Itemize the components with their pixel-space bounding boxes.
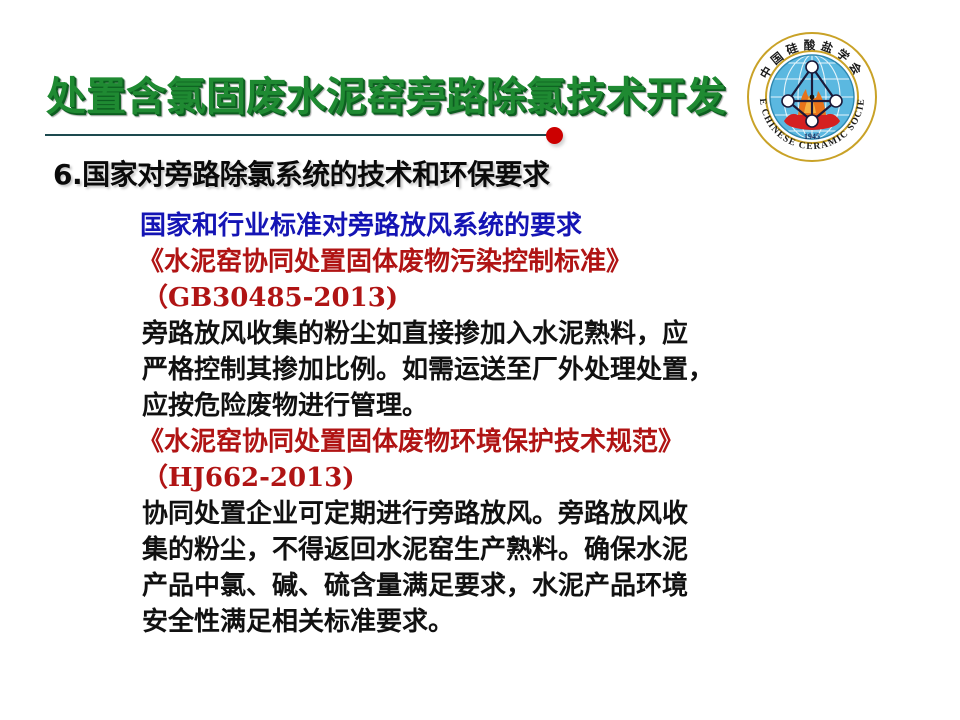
standard-1-paragraph-line: 应按危险废物进行管理。 <box>142 388 838 424</box>
chinese-ceramic-society-logo: 1945 中国硅酸盐学会 THE CHINESE CERAMIC SOCIETY <box>744 29 880 165</box>
standard-2-title: 《水泥窑协同处置固体废物环境保护技术规范》 <box>138 424 838 460</box>
standard-2-paragraph-line: 集的粉尘，不得返回水泥窑生产熟料。确保水泥 <box>142 532 838 568</box>
standard-2-paragraph-line: 产品中氯、碱、硫含量满足要求，水泥产品环境 <box>142 568 838 604</box>
standard-2-paragraph-line: 协同处置企业可定期进行旁路放风。旁路放风收 <box>142 496 838 532</box>
presentation-slide: 1945 中国硅酸盐学会 THE CHINESE CERAMIC SOCIETY… <box>0 0 960 720</box>
slide-main-title: 处置含氯固废水泥窑旁路除氯技术开发 <box>46 76 726 118</box>
title-divider-line <box>45 134 550 136</box>
standard-1-title: 《水泥窑协同处置固体废物污染控制标准》 <box>138 244 838 280</box>
section-heading: 6.国家对旁路除氯系统的技术和环保要求 <box>53 153 550 193</box>
standard-2-paragraph-line: 安全性满足相关标准要求。 <box>142 604 838 640</box>
standard-1-code: （GB30485-2013) <box>142 280 838 316</box>
divider-dot-icon <box>546 127 563 144</box>
standard-2-code: （HJ662-2013) <box>142 460 838 496</box>
logo-year: 1945 <box>804 132 820 141</box>
slide-body: 国家和行业标准对旁路放风系统的要求 《水泥窑协同处置固体废物污染控制标准》 （G… <box>138 208 838 640</box>
standard-1-paragraph-line: 旁路放风收集的粉尘如直接掺加入水泥熟料，应 <box>142 316 838 352</box>
body-lead-line: 国家和行业标准对旁路放风系统的要求 <box>140 208 838 244</box>
standard-1-paragraph-line: 严格控制其掺加比例。如需运送至厂外处理处置， <box>142 352 838 388</box>
